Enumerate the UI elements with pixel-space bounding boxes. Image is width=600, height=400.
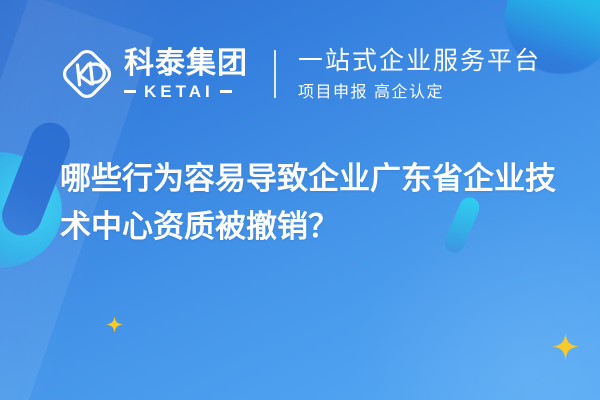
background-diagonal-dark-band (0, 0, 26, 400)
banner-header: 科泰集团 KETAI 一站式企业服务平台 项目申报 高企认定 (60, 36, 541, 112)
brand-logo[interactable]: 科泰集团 KETAI (60, 47, 248, 101)
brand-logo-wordmark: 科泰集团 KETAI (124, 48, 248, 100)
sparkle-star-icon-large (552, 333, 579, 360)
wordmark-dash-left (124, 90, 136, 93)
slogan-secondary: 项目申报 高企认定 (298, 83, 541, 102)
brand-name-chinese: 科泰集团 (124, 48, 248, 80)
decorative-cyan-blob-left (0, 152, 62, 268)
banner-title: 哪些行为容易导致企业广东省企业技术中心资质被撤销？ (60, 155, 565, 251)
slogan-block: 一站式企业服务平台 项目申报 高企认定 (298, 46, 541, 102)
slogan-primary: 一站式企业服务平台 (298, 46, 541, 76)
wordmark-dash-right (220, 90, 232, 93)
header-divider (274, 50, 276, 98)
ketai-diamond-kd-logo-icon (60, 47, 114, 101)
sparkle-star-icon-small (106, 316, 123, 333)
promo-banner: 科泰集团 KETAI 一站式企业服务平台 项目申报 高企认定 哪些行为容易导致企… (0, 0, 600, 400)
brand-name-english-row: KETAI (124, 83, 248, 100)
brand-name-english: KETAI (136, 83, 220, 100)
